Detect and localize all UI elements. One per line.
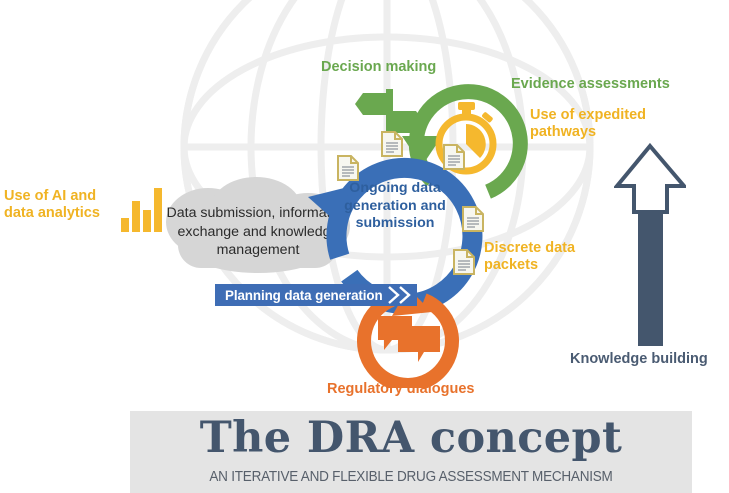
document-icon <box>453 249 475 275</box>
label-use-of-ai: Use of AI and data analytics <box>4 188 116 223</box>
infographic-canvas: Data submission, information exchange an… <box>0 0 729 493</box>
speech-bubbles-icon <box>378 316 440 362</box>
label-regulatory-dialogues: Regulatory dialogues <box>327 381 474 398</box>
planning-data-generation-bar: Planning data generation <box>215 284 417 306</box>
planning-bar-label: Planning data generation <box>225 288 383 303</box>
chevron-right-icon <box>387 284 413 306</box>
label-decision-making: Decision making <box>321 59 436 76</box>
document-icon <box>381 131 403 157</box>
label-expedited-pathways: Use of expedited pathways <box>530 107 670 142</box>
up-arrow-icon <box>614 142 686 347</box>
document-icon <box>462 206 484 232</box>
title-banner: The DRA concept AN ITERATIVE AND FLEXIBL… <box>130 411 692 493</box>
document-icon <box>337 155 359 181</box>
cycle-center-label: Ongoing data generation and submission <box>336 180 454 233</box>
label-discrete-data-packets: Discrete data packets <box>484 240 604 275</box>
bar-chart-icon <box>119 184 169 236</box>
label-evidence-assessments: Evidence assessments <box>511 76 670 93</box>
label-knowledge-building: Knowledge building <box>570 351 708 368</box>
page-subtitle: AN ITERATIVE AND FLEXIBLE DRUG ASSESSMEN… <box>147 469 675 485</box>
document-icon <box>443 144 465 170</box>
page-title: The DRA concept <box>130 416 692 462</box>
